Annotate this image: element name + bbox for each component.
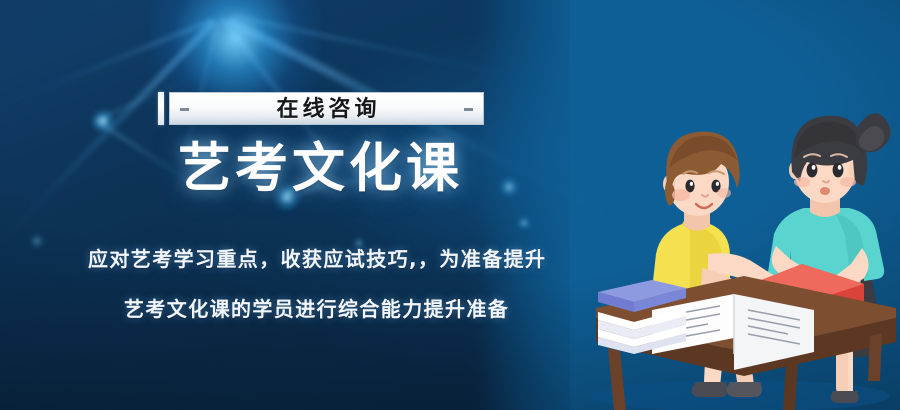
badge-right-dash-icon: [464, 108, 473, 111]
badge-left-dash-icon: [180, 108, 189, 111]
badge-panel: 在线咨询: [169, 92, 484, 125]
subtitle-line-2: 艺考文化课的学员进行综合能力提升准备: [124, 293, 509, 322]
subtitle-line-1: 应对艺考学习重点，收获应试技巧,，为准备提升: [88, 243, 546, 272]
badge-label: 在线咨询: [272, 98, 380, 120]
students-illustration: [590, 96, 900, 410]
online-consult-badge[interactable]: 在线咨询: [158, 92, 484, 125]
headline-title: 艺考文化课: [178, 140, 463, 198]
promo-banner: 在线咨询 艺考文化课 应对艺考学习重点，收获应试技巧,，为准备提升 艺考文化课的…: [0, 0, 900, 410]
